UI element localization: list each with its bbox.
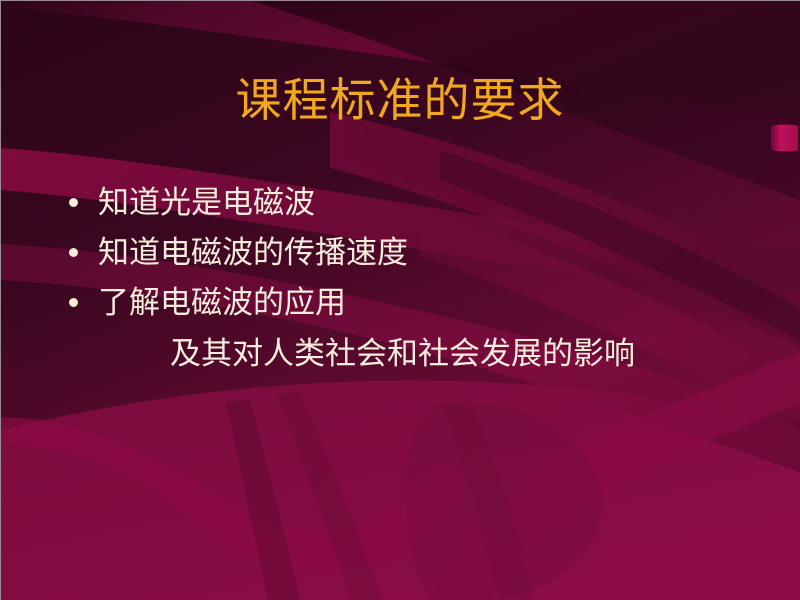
presentation-slide: 课程标准的要求 知道光是电磁波 知道电磁波的传播速度 了解电磁波的应用 及其对人… [0, 0, 800, 600]
bullet-dot-icon [69, 198, 78, 207]
continuation-label: 及其对人类社会和社会发展的影响 [170, 328, 778, 380]
page-title: 课程标准的要求 [0, 72, 800, 128]
list-item: 知道光是电磁波 [58, 178, 778, 228]
bullet-list: 知道光是电磁波 知道电磁波的传播速度 了解电磁波的应用 及其对人类社会和社会发展… [58, 178, 778, 380]
slide-content: 课程标准的要求 知道光是电磁波 知道电磁波的传播速度 了解电磁波的应用 及其对人… [0, 0, 800, 600]
list-item-label: 了解电磁波的应用 [98, 278, 778, 328]
list-item-continuation: 及其对人类社会和社会发展的影响 [58, 328, 778, 380]
list-item-label: 知道电磁波的传播速度 [98, 228, 778, 278]
bullet-dot-icon [69, 298, 78, 307]
list-item: 知道电磁波的传播速度 [58, 228, 778, 278]
list-item-label: 知道光是电磁波 [98, 178, 778, 228]
list-item: 了解电磁波的应用 [58, 278, 778, 328]
bullet-dot-icon [69, 248, 78, 257]
